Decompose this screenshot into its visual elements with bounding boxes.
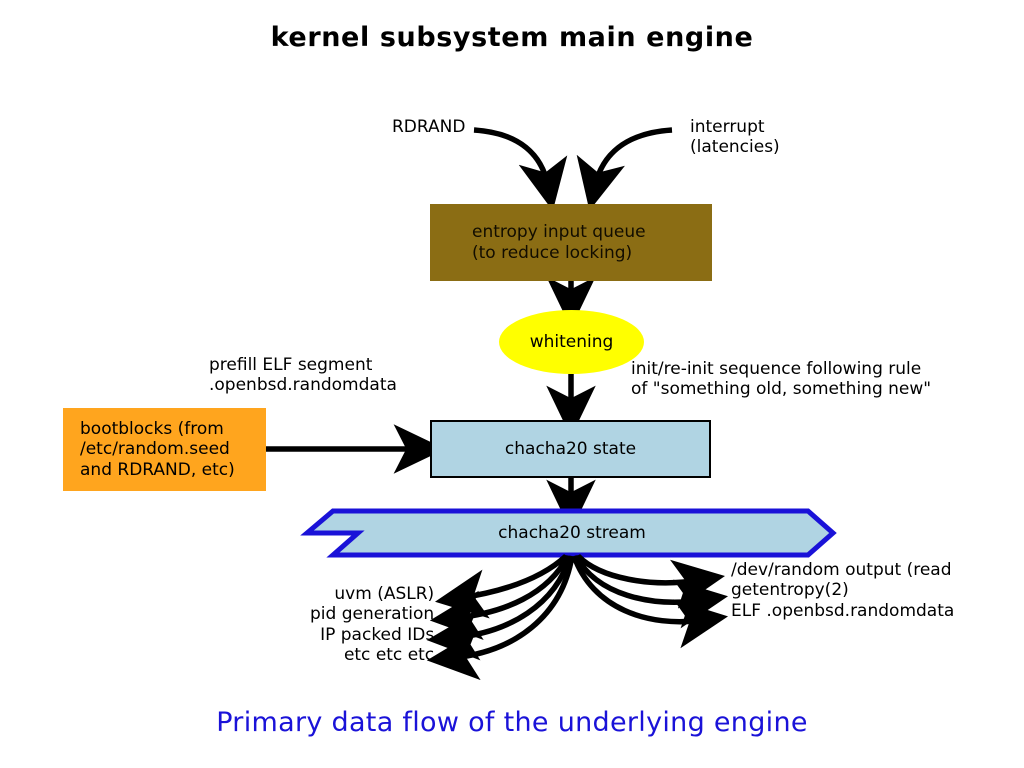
diagram-title: kernel subsystem main engine: [0, 22, 1024, 53]
node-whitening: whitening: [499, 310, 644, 374]
arrows-stream-to-left-consumers: [452, 556, 572, 658]
node-chacha20-stream: chacha20 stream: [332, 512, 812, 554]
annotation-init-reinit-sequence: init/re-init sequence following rule of …: [631, 359, 931, 400]
arrow-interrupt-to-queue: [595, 130, 672, 186]
annotation-prefill-elf-segment: prefill ELF segment .openbsd.randomdata: [209, 355, 397, 396]
diagram-caption: Primary data flow of the underlying engi…: [0, 707, 1024, 738]
diagram-canvas: kernel subsystem main engine: [0, 0, 1024, 768]
arrows-stream-to-right-consumers: [574, 556, 703, 622]
label-rdrand: RDRAND: [392, 117, 465, 137]
label-left-consumers: uvm (ASLR) pid generation IP packed IDs …: [310, 584, 434, 666]
node-entropy-input-queue: entropy input queue (to reduce locking): [430, 204, 712, 281]
label-interrupt: interrupt (latencies): [690, 117, 780, 158]
node-chacha20-state: chacha20 state: [430, 420, 711, 478]
label-right-consumers: /dev/random output (read getentropy(2) E…: [731, 560, 954, 621]
node-bootblocks: bootblocks (from /etc/random.seed and RD…: [63, 408, 266, 491]
arrow-rdrand-to-queue: [474, 130, 548, 186]
